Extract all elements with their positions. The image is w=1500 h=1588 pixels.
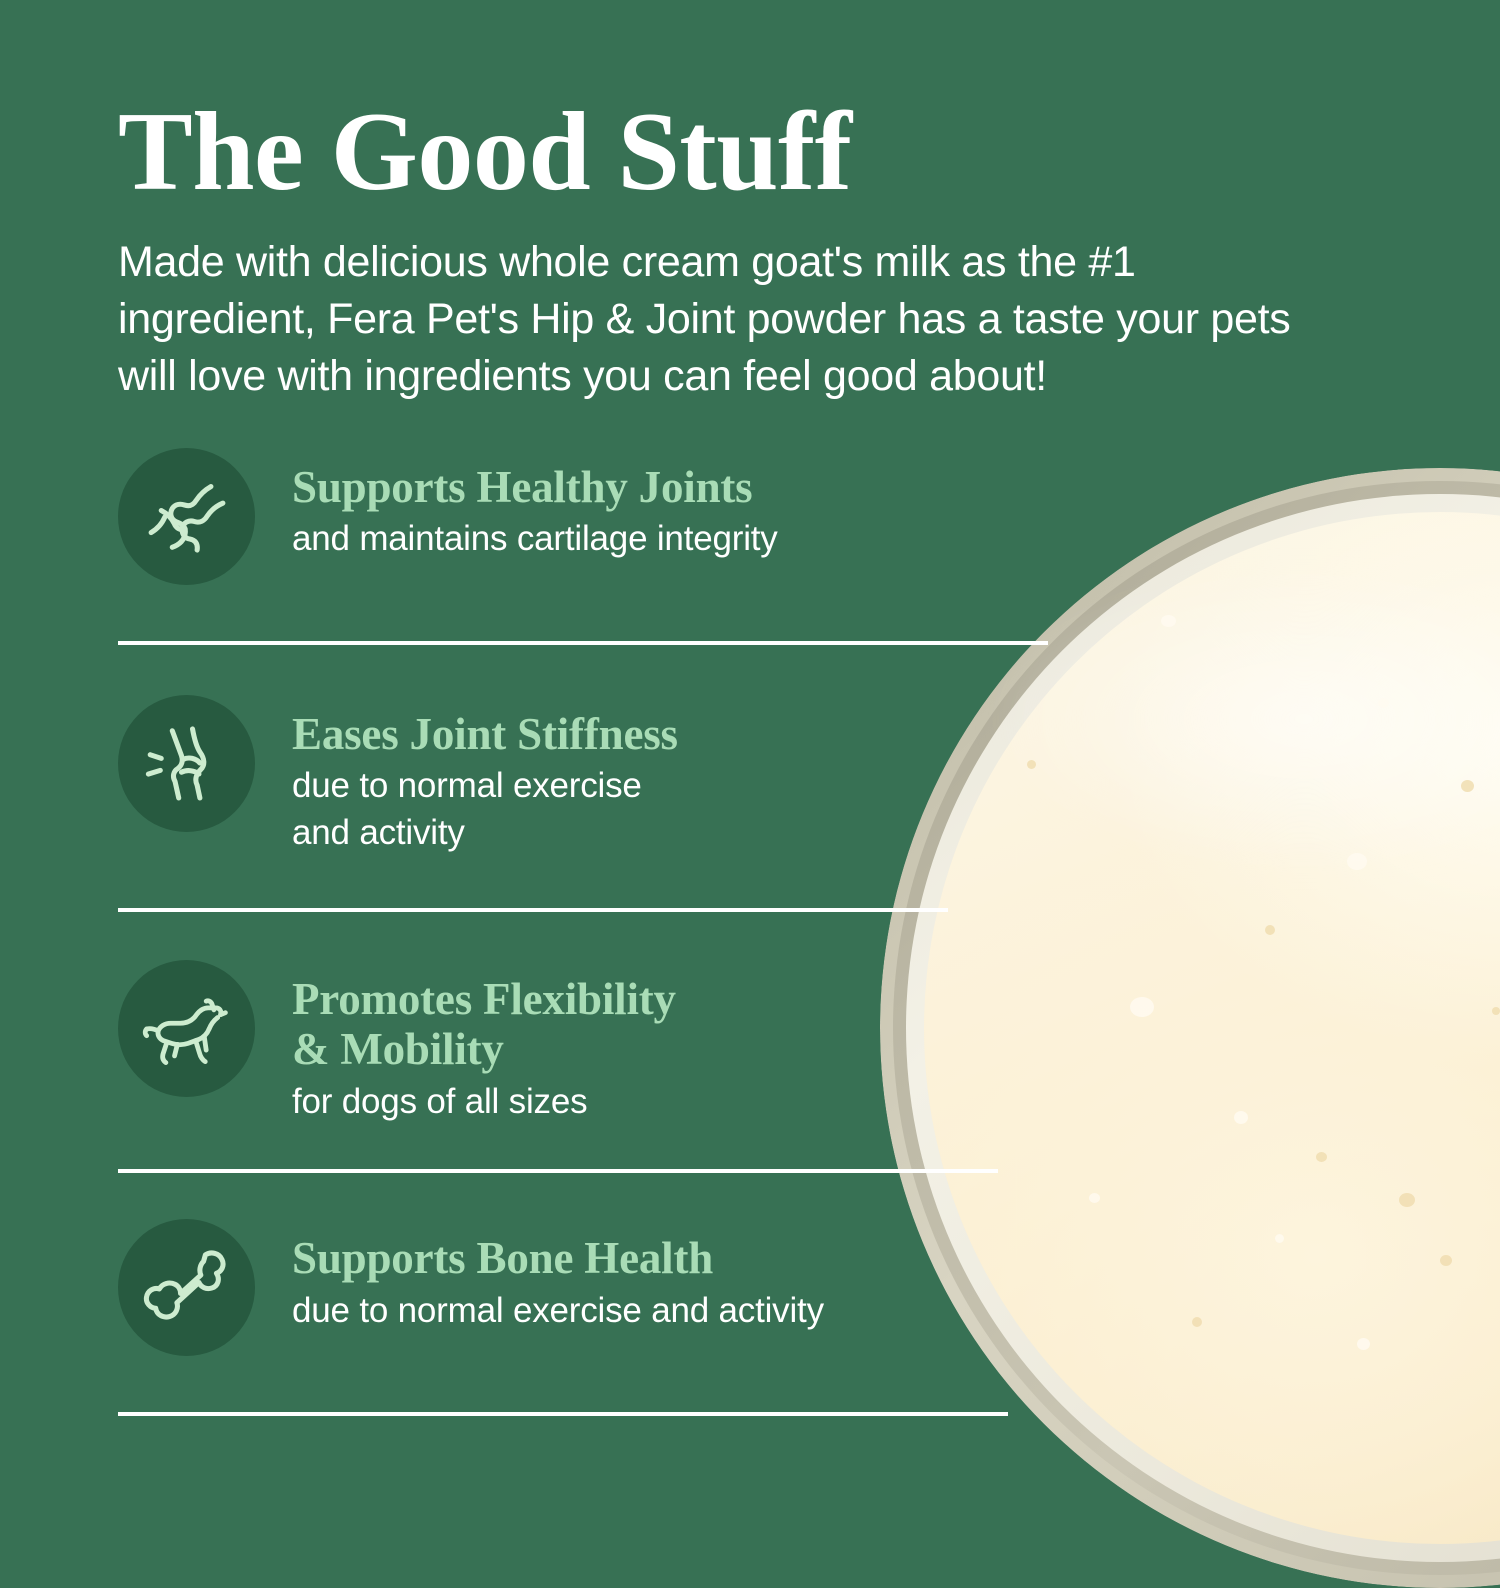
feature-divider [118,1412,1008,1416]
feature-title: Supports Healthy Joints [292,462,778,512]
feature-text: Promotes Flexibility & Mobility for dogs… [255,960,676,1125]
feature-title: Promotes Flexibility & Mobility [292,974,676,1075]
feature-row-promotes-flexibility-mobility: Promotes Flexibility & Mobility for dogs… [118,960,1500,1125]
feature-divider [118,1169,998,1173]
intro-paragraph: Made with delicious whole cream goat's m… [118,208,1333,406]
feature-subtitle: and maintains cartilage integrity [292,512,778,563]
feature-title: Supports Bone Health [292,1233,824,1283]
feature-subtitle: for dogs of all sizes [292,1075,676,1126]
feature-text: Supports Bone Health due to normal exerc… [255,1219,824,1334]
joint-bones-icon [118,448,255,585]
running-dog-icon [118,960,255,1097]
feature-row-supports-bone-health: Supports Bone Health due to normal exerc… [118,1219,1500,1356]
feature-subtitle: due to normal exercise and activity [292,1284,824,1335]
feature-divider [118,908,948,912]
feature-text: Supports Healthy Joints and maintains ca… [255,448,778,563]
knee-joint-relief-icon [118,695,255,832]
feature-title: Eases Joint Stiffness [292,709,678,759]
feature-row-eases-joint-stiffness: Eases Joint Stiffness due to normal exer… [118,695,1500,856]
feature-divider [118,641,1048,645]
feature-row-supports-healthy-joints: Supports Healthy Joints and maintains ca… [118,448,1500,585]
feature-benefit-list: Supports Healthy Joints and maintains ca… [118,448,1500,1417]
feature-text: Eases Joint Stiffness due to normal exer… [255,695,678,856]
feature-subtitle: due to normal exercise and activity [292,759,678,856]
content-column: The Good Stuff Made with delicious whole… [0,0,1500,1416]
dog-bone-icon [118,1219,255,1356]
page-title: The Good Stuff [118,0,1500,208]
